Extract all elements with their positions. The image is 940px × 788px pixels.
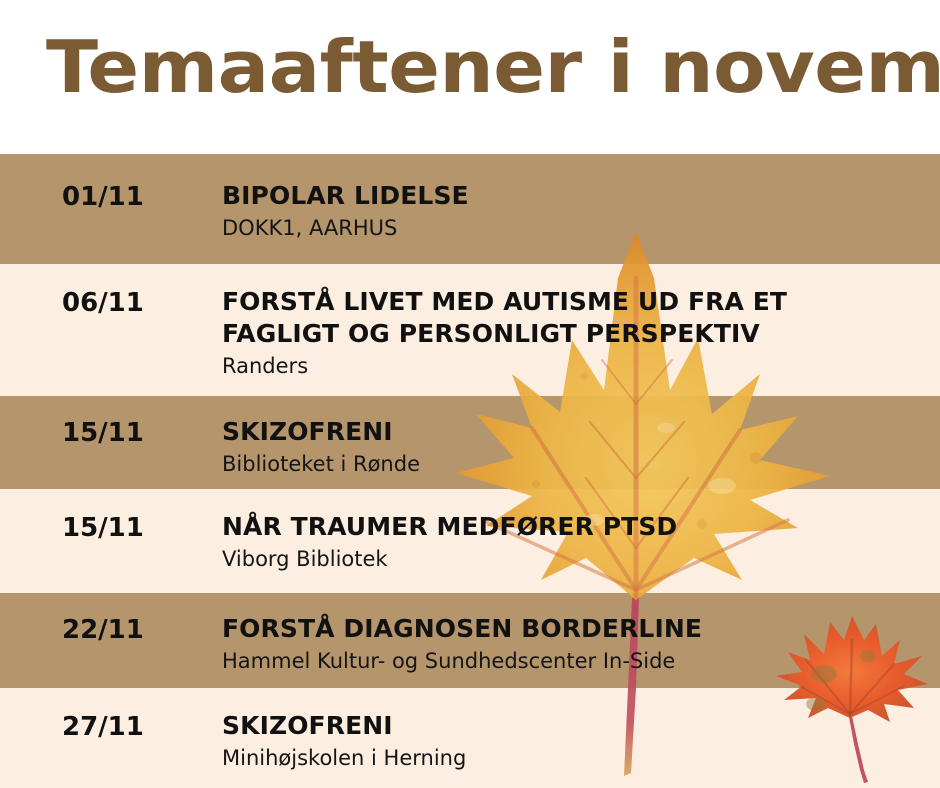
event-venue: Biblioteket i Rønde xyxy=(222,450,940,478)
event-title: NÅR TRAUMER MEDFØRER PTSD xyxy=(222,511,940,543)
schedule-row[interactable]: 01/11BIPOLAR LIDELSEDOKK1, AARHUS xyxy=(0,180,940,242)
event-date: 01/11 xyxy=(0,180,222,214)
schedule-row[interactable]: 15/11SKIZOFRENIBiblioteket i Rønde xyxy=(0,416,940,478)
event-venue: DOKK1, AARHUS xyxy=(222,214,940,242)
schedule-row[interactable]: 27/11SKIZOFRENIMinihøjskolen i Herning xyxy=(0,710,940,772)
event-body: SKIZOFRENIBiblioteket i Rønde xyxy=(222,416,940,478)
schedule-row[interactable]: 15/11NÅR TRAUMER MEDFØRER PTSDViborg Bib… xyxy=(0,511,940,573)
event-title: FORSTÅ DIAGNOSEN BORDERLINE xyxy=(222,613,940,645)
event-title-line: SKIZOFRENI xyxy=(222,710,940,742)
event-title-line: SKIZOFRENI xyxy=(222,416,940,448)
event-title: FORSTÅ LIVET MED AUTISME UD FRA ETFAGLIG… xyxy=(222,286,940,350)
event-title-line: FORSTÅ LIVET MED AUTISME UD FRA ET xyxy=(222,286,940,318)
event-date: 22/11 xyxy=(0,613,222,647)
event-venue: Minihøjskolen i Herning xyxy=(222,744,940,772)
event-venue: Viborg Bibliotek xyxy=(222,545,940,573)
event-title-line: NÅR TRAUMER MEDFØRER PTSD xyxy=(222,511,940,543)
event-title: BIPOLAR LIDELSE xyxy=(222,180,940,212)
page-title: Temaaftener i november xyxy=(46,24,940,110)
event-date: 06/11 xyxy=(0,286,222,320)
event-title: SKIZOFRENI xyxy=(222,710,940,742)
event-venue: Hammel Kultur- og Sundhedscenter In-Side xyxy=(222,647,940,675)
event-venue: Randers xyxy=(222,352,940,380)
event-title-line: BIPOLAR LIDELSE xyxy=(222,180,940,212)
schedule-row[interactable]: 06/11FORSTÅ LIVET MED AUTISME UD FRA ETF… xyxy=(0,286,940,380)
event-title-line: FORSTÅ DIAGNOSEN BORDERLINE xyxy=(222,613,940,645)
event-body: NÅR TRAUMER MEDFØRER PTSDViborg Bibliote… xyxy=(222,511,940,573)
event-date: 15/11 xyxy=(0,511,222,545)
event-body: BIPOLAR LIDELSEDOKK1, AARHUS xyxy=(222,180,940,242)
event-body: FORSTÅ DIAGNOSEN BORDERLINEHammel Kultur… xyxy=(222,613,940,675)
event-date: 15/11 xyxy=(0,416,222,450)
event-date: 27/11 xyxy=(0,710,222,744)
schedule-row[interactable]: 22/11FORSTÅ DIAGNOSEN BORDERLINEHammel K… xyxy=(0,613,940,675)
poster-header: Temaaftener i november xyxy=(0,0,940,154)
event-title: SKIZOFRENI xyxy=(222,416,940,448)
event-body: FORSTÅ LIVET MED AUTISME UD FRA ETFAGLIG… xyxy=(222,286,940,380)
event-title-line: FAGLIGT OG PERSONLIGT PERSPEKTIV xyxy=(222,318,940,350)
event-body: SKIZOFRENIMinihøjskolen i Herning xyxy=(222,710,940,772)
schedule-list: 01/11BIPOLAR LIDELSEDOKK1, AARHUS06/11FO… xyxy=(0,154,940,788)
poster-canvas: Temaaftener i november 01/11BIPOLAR LIDE… xyxy=(0,0,940,788)
